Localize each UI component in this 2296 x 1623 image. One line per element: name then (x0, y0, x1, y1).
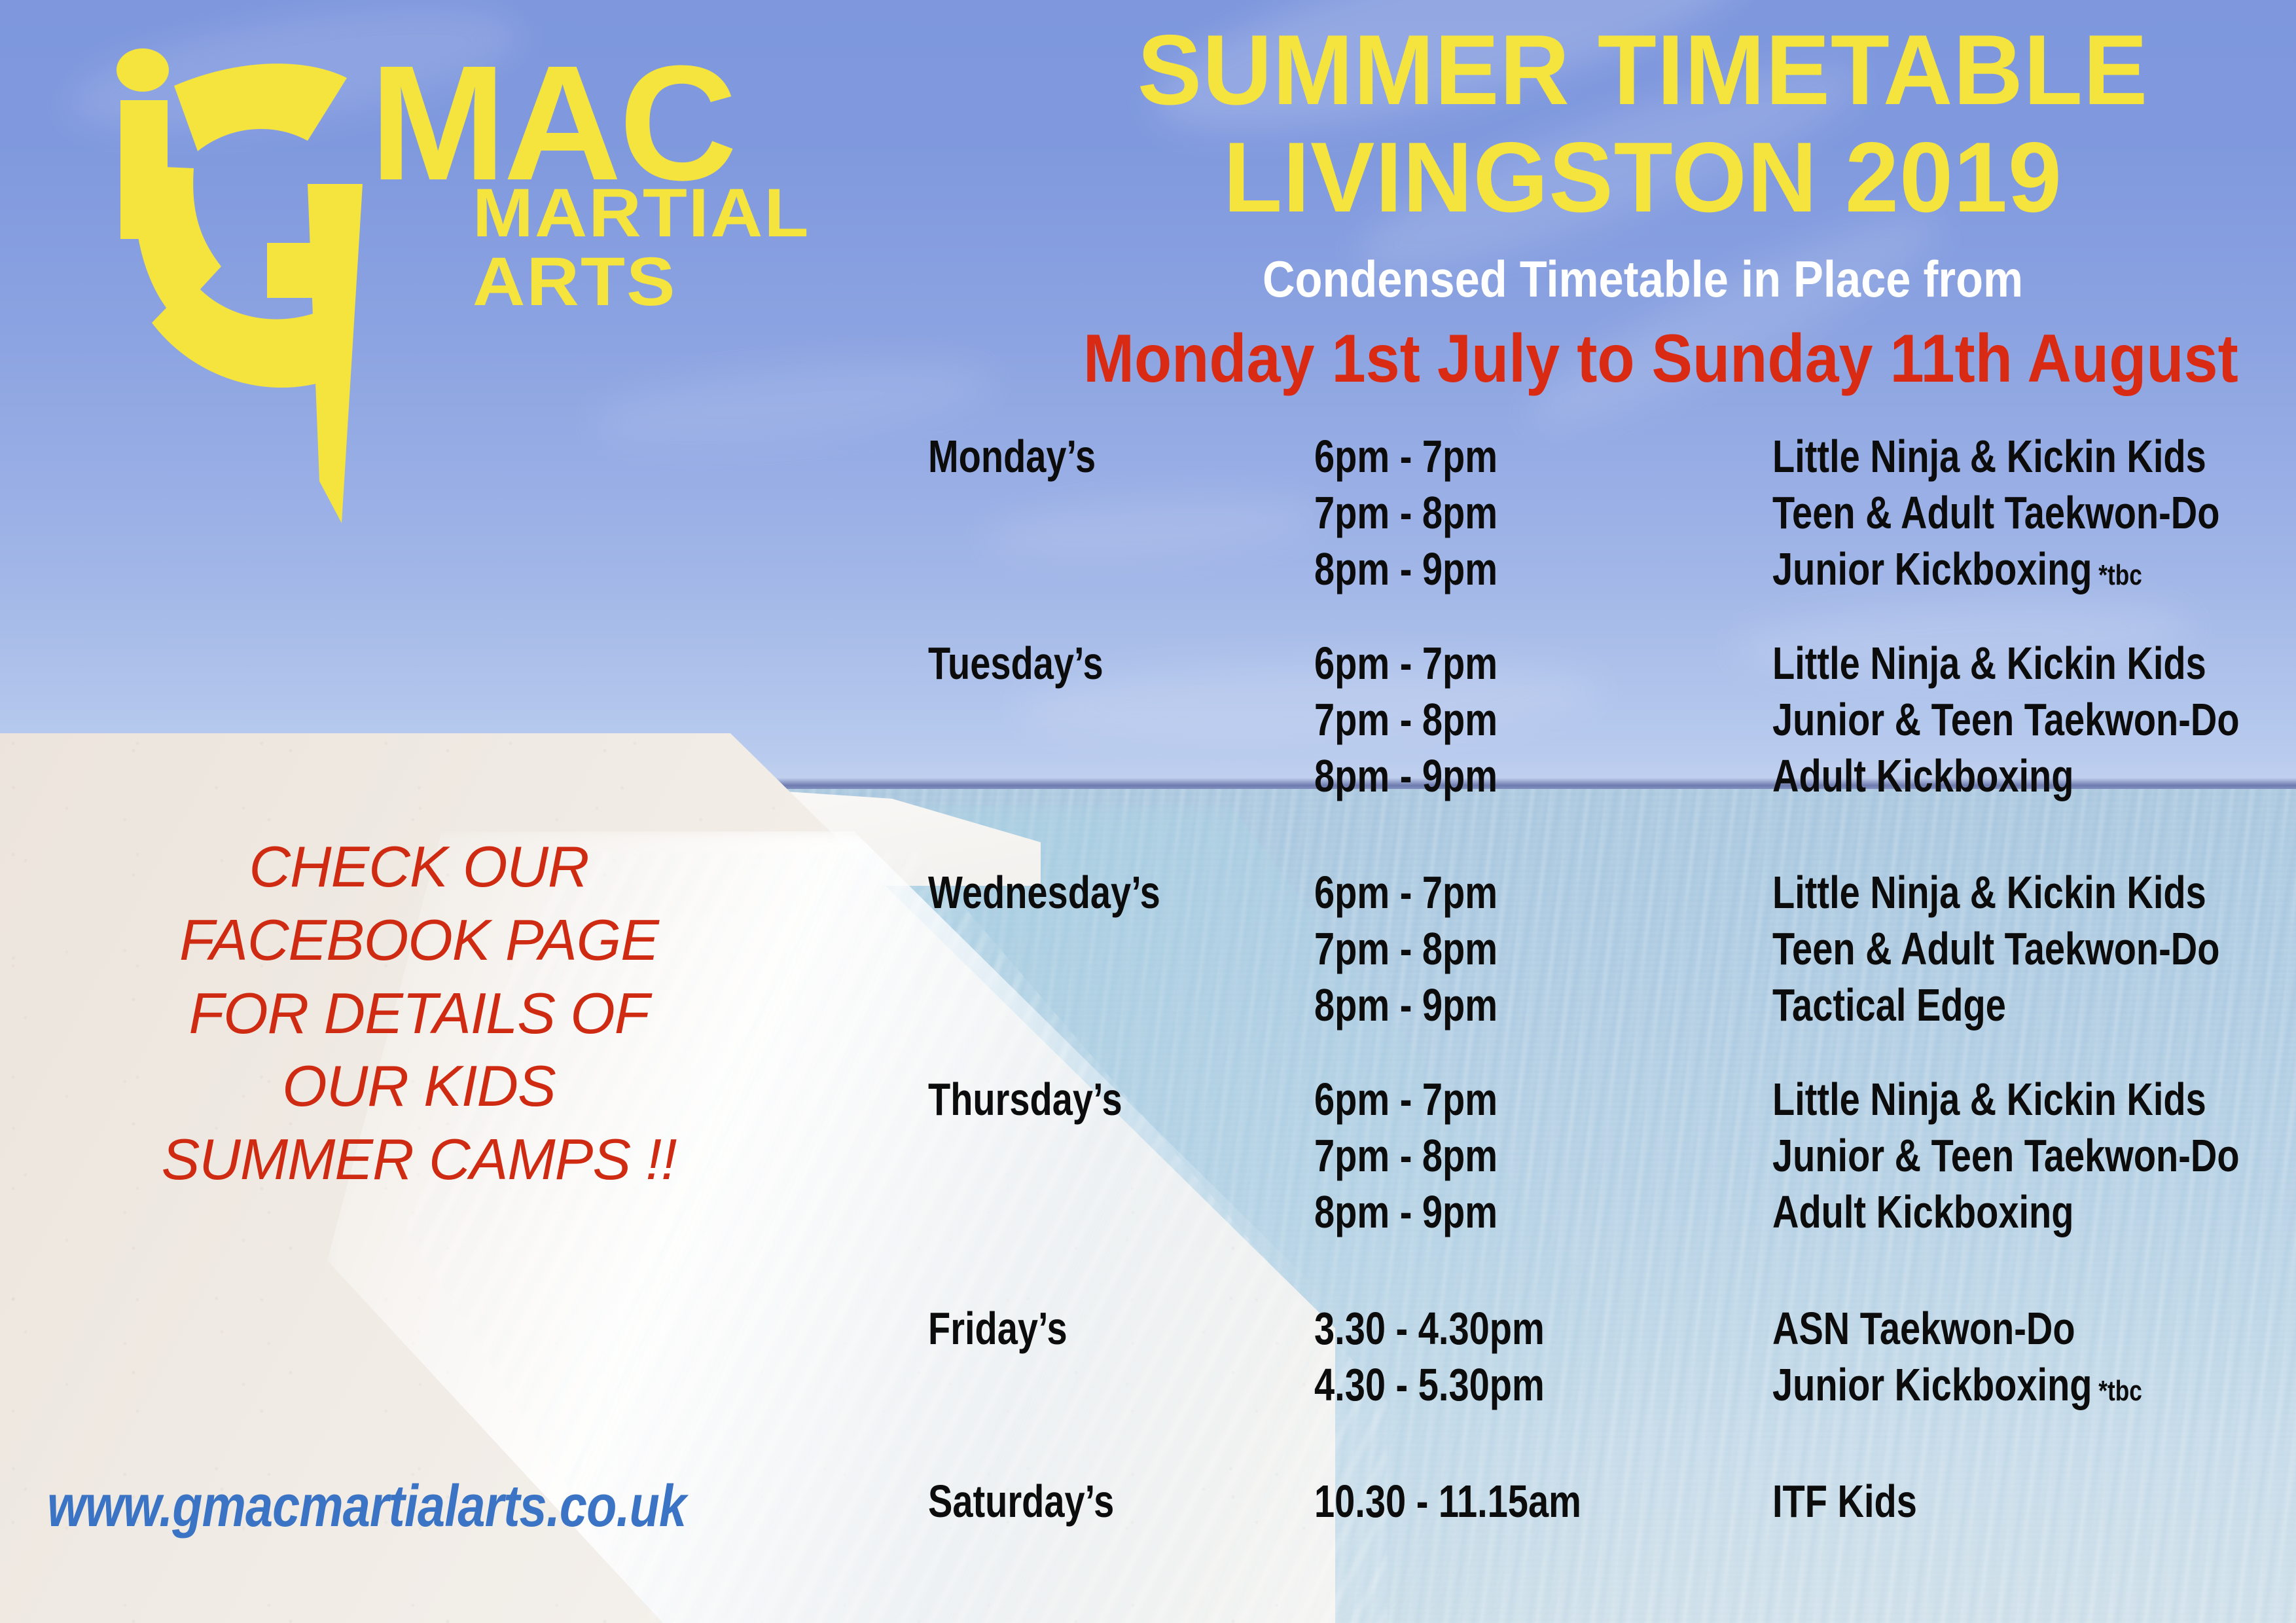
table-row: Tuesday’s6pm - 7pmLittle Ninja & Kickin … (928, 640, 2276, 697)
timetable-time-slot: 6pm - 7pm (1314, 433, 1681, 479)
timetable-time-slot: 7pm - 8pm (1314, 697, 1681, 742)
timetable-day-group: Wednesday’s6pm - 7pmLittle Ninja & Kicki… (928, 869, 2276, 1038)
page-title-line1: SUMMER TIMETABLE (1040, 18, 2246, 122)
timetable-day-label: Tuesday’s (928, 640, 1237, 686)
callout-line: FACEBOOK PAGE (39, 903, 798, 977)
timetable-class-name: Junior & Teen Taekwon-Do (1772, 1133, 2240, 1178)
table-row: 4.30 - 5.30pmJunior Kickboxing *tbc (928, 1362, 2276, 1418)
logo-tagline: MARTIAL ARTS (473, 179, 950, 316)
timetable-tbc-note: *tbc (2092, 559, 2142, 591)
class-timetable: Monday’s6pm - 7pmLittle Ninja & Kickin K… (928, 433, 2276, 1535)
table-row: 7pm - 8pmTeen & Adult Taekwon-Do (928, 926, 2276, 982)
timetable-class-name: Little Ninja & Kickin Kids (1772, 640, 2206, 686)
facebook-callout: CHECK OURFACEBOOK PAGEFOR DETAILS OFOUR … (39, 830, 798, 1196)
timetable-day-group: Friday’s3.30 - 4.30pmASN Taekwon-Do4.30 … (928, 1305, 2276, 1418)
callout-line: FOR DETAILS OF (39, 977, 798, 1050)
timetable-class-name: ASN Taekwon-Do (1772, 1305, 2176, 1351)
table-row: 8pm - 9pmAdult Kickboxing (928, 753, 2276, 809)
callout-line: SUMMER CAMPS !! (39, 1123, 798, 1196)
timetable-group-spacer (928, 1038, 2276, 1076)
timetable-day-group: Tuesday’s6pm - 7pmLittle Ninja & Kickin … (928, 640, 2276, 809)
timetable-day-label: Wednesday’s (928, 869, 1237, 915)
table-row: 8pm - 9pmTactical Edge (928, 982, 2276, 1038)
timetable-group-spacer (928, 1418, 2276, 1478)
timetable-time-slot: 8pm - 9pm (1314, 753, 1681, 799)
callout-line: OUR KIDS (39, 1049, 798, 1123)
timetable-class-name: Teen & Adult Taekwon-Do (1772, 490, 2219, 536)
page-subtitle: Condensed Timetable in Place from (1096, 251, 2190, 308)
timetable-class-name: Little Ninja & Kickin Kids (1772, 1076, 2206, 1122)
table-row: Wednesday’s6pm - 7pmLittle Ninja & Kicki… (928, 869, 2276, 926)
table-row: Monday’s6pm - 7pmLittle Ninja & Kickin K… (928, 433, 2276, 490)
table-row: 7pm - 8pmJunior & Teen Taekwon-Do (928, 1133, 2276, 1189)
timetable-day-label: Monday’s (928, 433, 1237, 479)
timetable-time-slot: 6pm - 7pm (1314, 869, 1681, 915)
timetable-class-name: Tactical Edge (1772, 982, 2176, 1028)
timetable-class-name: Adult Kickboxing (1772, 1189, 2176, 1235)
page-title-line2: LIVINGSTON 2019 (1040, 126, 2246, 229)
timetable-class-name: Junior Kickboxing *tbc (1772, 1362, 2176, 1408)
timetable-time-slot: 6pm - 7pm (1314, 640, 1681, 686)
timetable-day-label: Saturday’s (928, 1478, 1237, 1524)
timetable-time-slot: 4.30 - 5.30pm (1314, 1362, 1681, 1408)
timetable-group-spacer (928, 809, 2276, 869)
table-row: Friday’s3.30 - 4.30pmASN Taekwon-Do (928, 1305, 2276, 1362)
table-row: Saturday’s10.30 - 11.15amITF Kids (928, 1478, 2276, 1535)
gmac-logo: MAC MARTIAL ARTS (111, 23, 923, 573)
table-row: 7pm - 8pmJunior & Teen Taekwon-Do (928, 697, 2276, 753)
website-url[interactable]: www.gmacmartialarts.co.uk (47, 1477, 686, 1536)
timetable-tbc-note: *tbc (2092, 1375, 2142, 1407)
timetable-time-slot: 7pm - 8pm (1314, 490, 1681, 536)
timetable-time-slot: 8pm - 9pm (1314, 982, 1681, 1028)
timetable-time-slot: 8pm - 9pm (1314, 546, 1681, 592)
timetable-time-slot: 8pm - 9pm (1314, 1189, 1681, 1235)
timetable-time-slot: 6pm - 7pm (1314, 1076, 1681, 1122)
timetable-class-name: Adult Kickboxing (1772, 753, 2176, 799)
timetable-day-group: Saturday’s10.30 - 11.15amITF Kids (928, 1478, 2276, 1535)
table-row: 7pm - 8pmTeen & Adult Taekwon-Do (928, 490, 2276, 546)
poster-headings: SUMMER TIMETABLE LIVINGSTON 2019 Condens… (1021, 18, 2265, 395)
timetable-time-slot: 3.30 - 4.30pm (1314, 1305, 1681, 1351)
table-row: 8pm - 9pmJunior Kickboxing *tbc (928, 546, 2276, 602)
timetable-class-name: Teen & Adult Taekwon-Do (1772, 926, 2219, 972)
timetable-group-spacer (928, 602, 2276, 640)
timetable-day-group: Monday’s6pm - 7pmLittle Ninja & Kickin K… (928, 433, 2276, 602)
callout-line: CHECK OUR (39, 830, 798, 903)
timetable-group-spacer (928, 1245, 2276, 1305)
timetable-day-group: Thursday’s6pm - 7pmLittle Ninja & Kickin… (928, 1076, 2276, 1245)
timetable-time-slot: 7pm - 8pm (1314, 1133, 1681, 1178)
date-range: Monday 1st July to Sunday 11th August (1083, 323, 2202, 395)
timetable-class-name: Junior Kickboxing *tbc (1772, 546, 2176, 592)
timetable-day-label: Thursday’s (928, 1076, 1237, 1122)
timetable-time-slot: 7pm - 8pm (1314, 926, 1681, 972)
timetable-time-slot: 10.30 - 11.15am (1314, 1478, 1681, 1524)
summer-timetable-poster: MAC MARTIAL ARTS SUMMER TIMETABLE LIVING… (0, 0, 2296, 1623)
timetable-class-name: ITF Kids (1772, 1478, 2176, 1524)
table-row: 8pm - 9pmAdult Kickboxing (928, 1189, 2276, 1245)
timetable-day-label: Friday’s (928, 1305, 1237, 1351)
timetable-class-name: Junior & Teen Taekwon-Do (1772, 697, 2240, 742)
timetable-class-name: Little Ninja & Kickin Kids (1772, 433, 2206, 479)
table-row: Thursday’s6pm - 7pmLittle Ninja & Kickin… (928, 1076, 2276, 1133)
timetable-class-name: Little Ninja & Kickin Kids (1772, 869, 2206, 915)
